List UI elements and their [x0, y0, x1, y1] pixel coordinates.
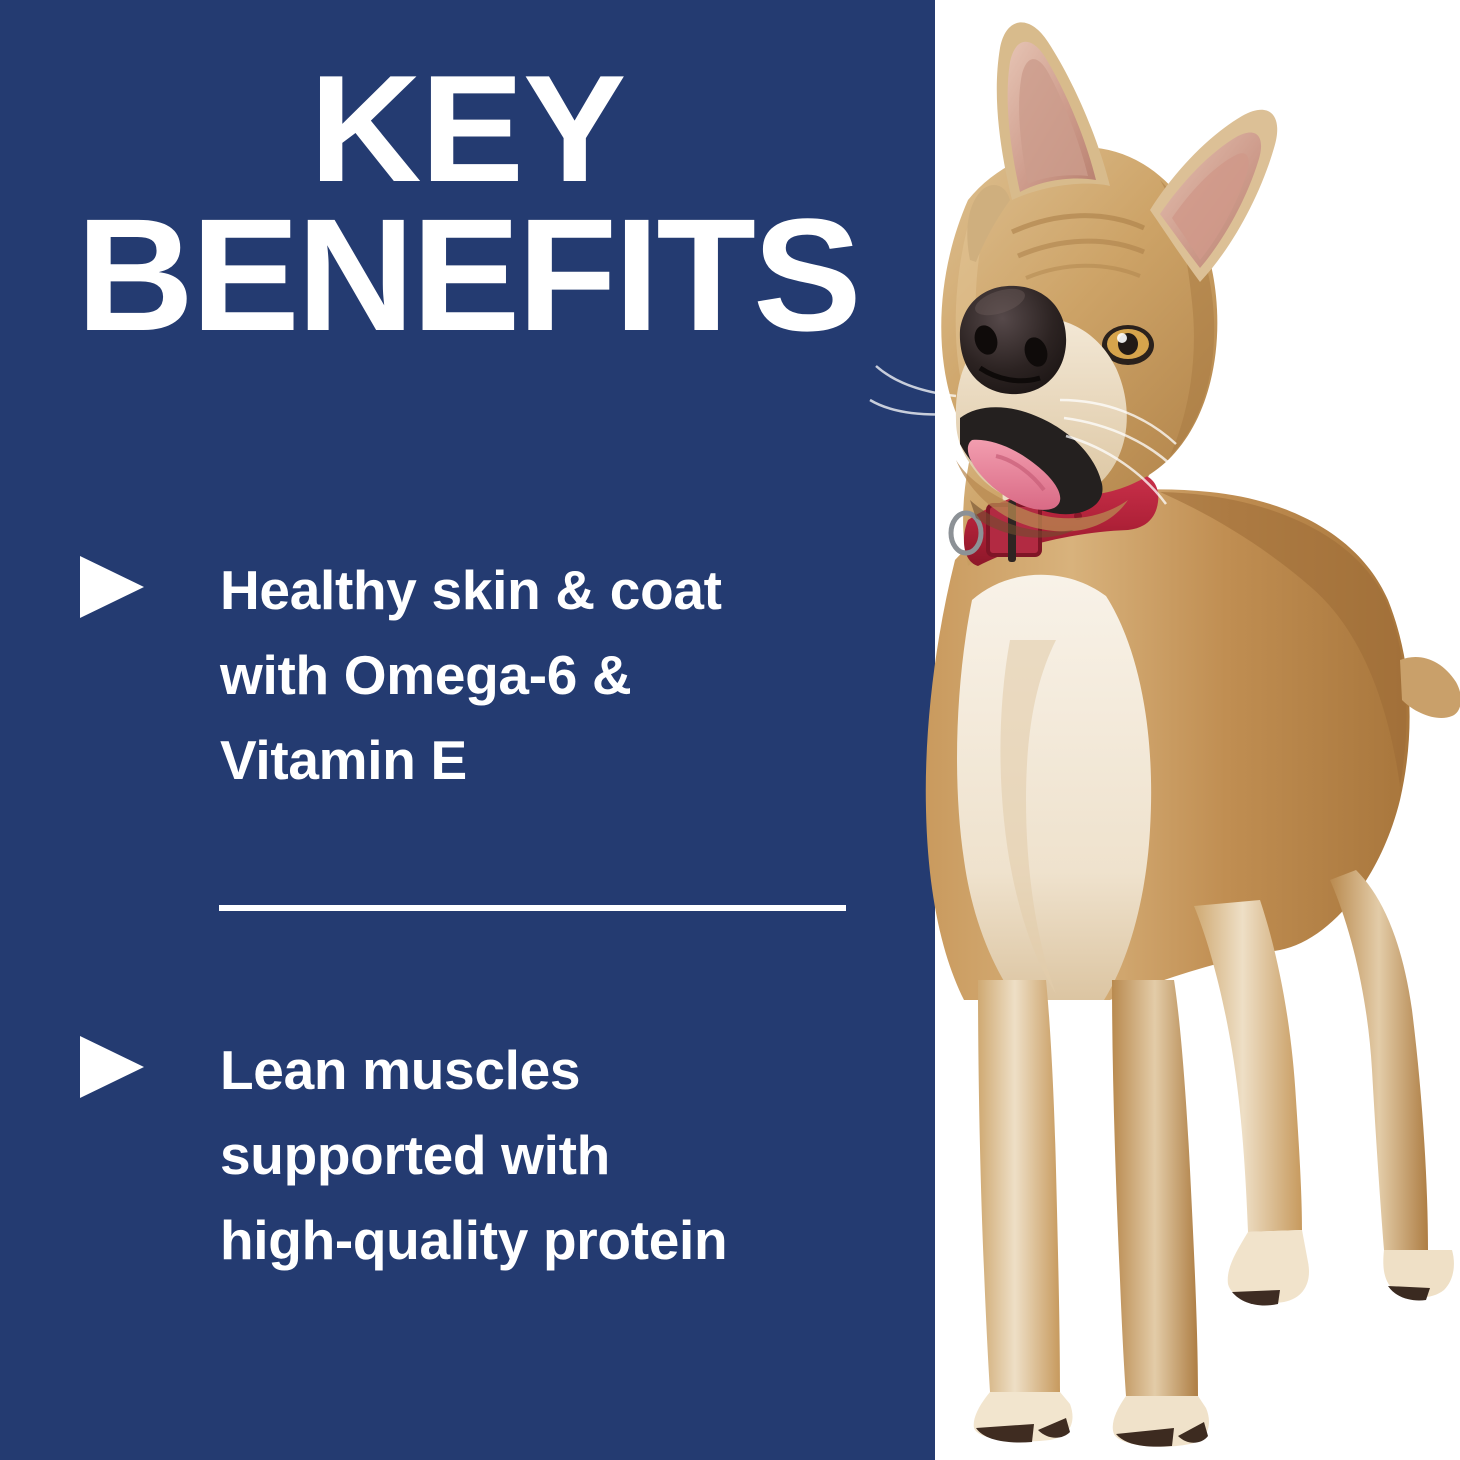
benefit-text: Lean muscles supported with high-quality…	[220, 1028, 727, 1283]
page-title-line-2: BENEFITS	[0, 202, 944, 348]
benefit-line: high-quality protein	[220, 1198, 727, 1283]
benefit-line: with Omega-6 &	[220, 633, 722, 718]
page-title-line-1: KEY	[0, 56, 944, 202]
benefit-line: Lean muscles	[220, 1028, 727, 1113]
benefit-line: Vitamin E	[220, 718, 722, 803]
play-triangle-icon	[80, 556, 144, 618]
section-divider	[219, 905, 846, 911]
benefit-item: Lean muscles supported with high-quality…	[80, 1028, 880, 1283]
benefit-item: Healthy skin & coat with Omega-6 & Vitam…	[80, 548, 880, 803]
play-triangle-icon	[80, 1036, 144, 1098]
dog-photo	[860, 0, 1460, 1460]
benefit-text: Healthy skin & coat with Omega-6 & Vitam…	[220, 548, 722, 803]
page-title: KEY BENEFITS	[0, 56, 944, 348]
benefit-line: Healthy skin & coat	[220, 548, 722, 633]
benefit-line: supported with	[220, 1113, 727, 1198]
key-benefits-banner: KEY BENEFITS Healthy skin & coat with Om…	[0, 0, 1460, 1460]
